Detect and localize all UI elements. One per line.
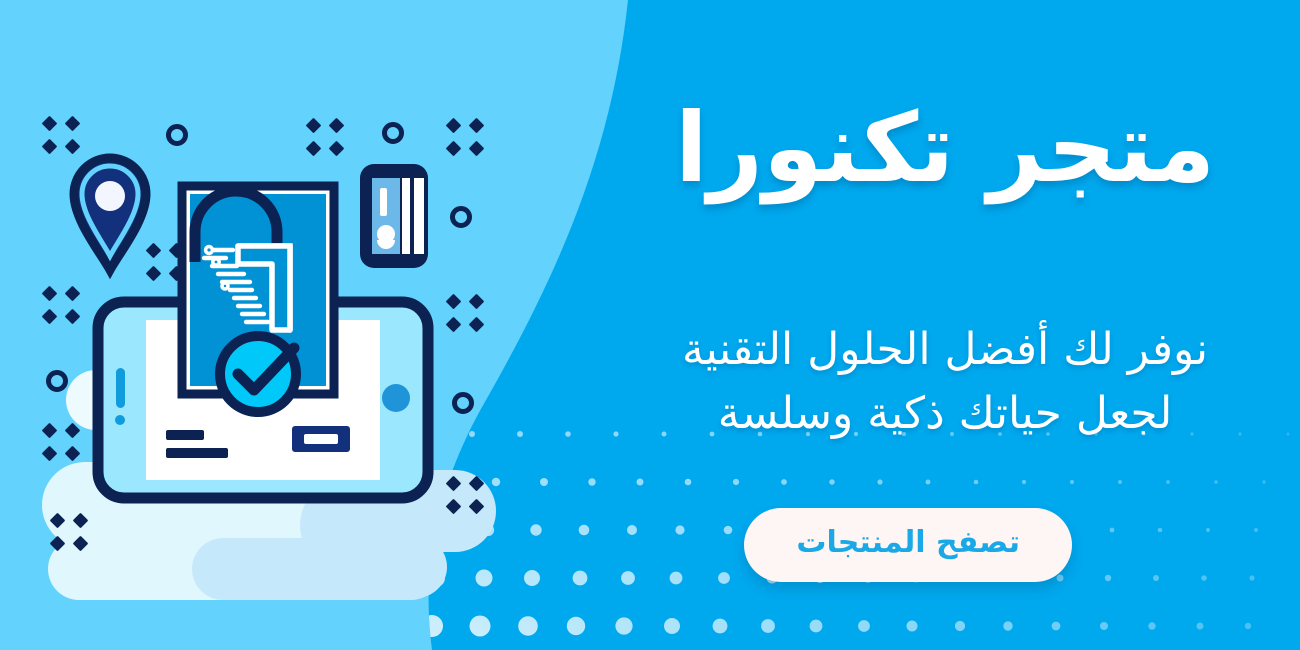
cta-container: تصفح المنتجات: [744, 508, 1072, 582]
ring-icon: [450, 206, 472, 228]
ring-icon: [166, 124, 188, 146]
decor-rings: [0, 0, 1300, 650]
promo-banner: متجر تكنورا نوفر لك أفضل الحلول التقنية …: [0, 0, 1300, 650]
ring-icon: [452, 392, 474, 414]
ring-icon: [382, 122, 404, 144]
browse-products-button[interactable]: تصفح المنتجات: [744, 508, 1072, 582]
ring-icon: [46, 370, 68, 392]
